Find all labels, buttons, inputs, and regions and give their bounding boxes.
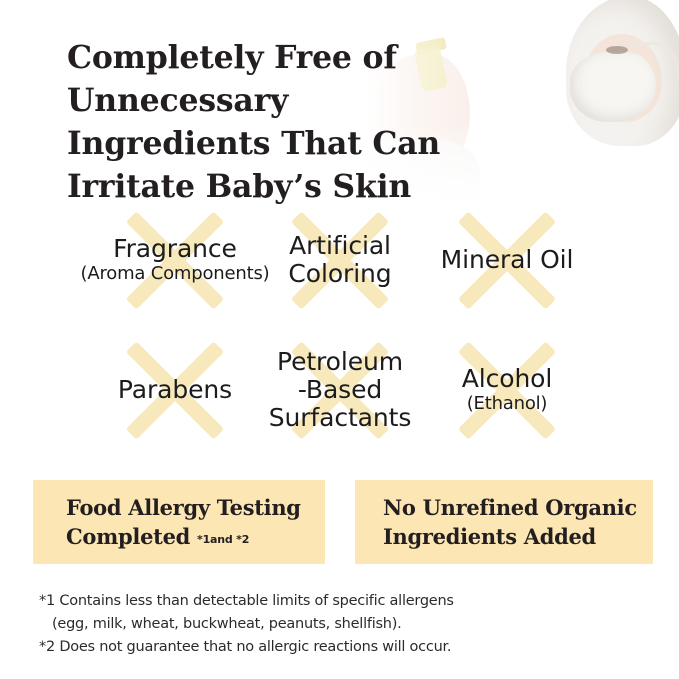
claim-box-food-allergy-testing: Food Allergy Testing Completed*1and *2 [33,480,325,564]
claim-box-group: Food Allergy Testing Completed*1and *2No… [33,480,653,564]
claim-text: No Unrefined Organic Ingredients Added [383,495,637,549]
page-title: Completely Free of Unnecessary Ingredien… [67,36,627,208]
ingredient-name: Parabens [118,376,232,404]
footnote-line: *2 Does not guarantee that no allergic r… [39,636,639,659]
ingredient-item-mineral-oil: Mineral Oil [392,195,622,325]
ingredient-label: Petroleum -Based Surfactants [269,348,412,433]
ingredient-subtitle: (Aroma Components) [81,264,270,284]
product-claims-infographic: Completely Free of Unnecessary Ingredien… [0,0,679,679]
ingredient-name: Mineral Oil [441,246,574,274]
ingredient-item-alcohol: Alcohol(Ethanol) [392,325,622,455]
ingredient-subtitle: (Ethanol) [462,394,552,414]
claim-text: Food Allergy Testing Completed [66,495,301,549]
claim-footnote-marker: *1and *2 [197,533,249,546]
excluded-ingredients-grid: Fragrance(Aroma Components)Artificial Co… [0,196,679,464]
footnote-line: *1 Contains less than detectable limits … [39,590,639,613]
ingredient-name: Alcohol [462,365,552,393]
ingredient-label: Alcohol(Ethanol) [462,365,552,415]
claim-box-no-unrefined-organic: No Unrefined Organic Ingredients Added [355,480,653,564]
ingredient-label: Fragrance(Aroma Components) [81,235,270,285]
ingredient-name: Petroleum -Based Surfactants [269,348,412,433]
ingredient-label: Parabens [118,376,232,404]
footnotes: *1 Contains less than detectable limits … [39,590,639,659]
ingredient-name: Artificial Coloring [288,232,391,289]
ingredient-label: Mineral Oil [441,246,574,274]
face-mask-strap [620,42,679,79]
ingredient-name: Fragrance [81,235,270,263]
footnote-line: (egg, milk, wheat, buckwheat, peanuts, s… [39,613,639,636]
ingredient-label: Artificial Coloring [288,232,391,289]
